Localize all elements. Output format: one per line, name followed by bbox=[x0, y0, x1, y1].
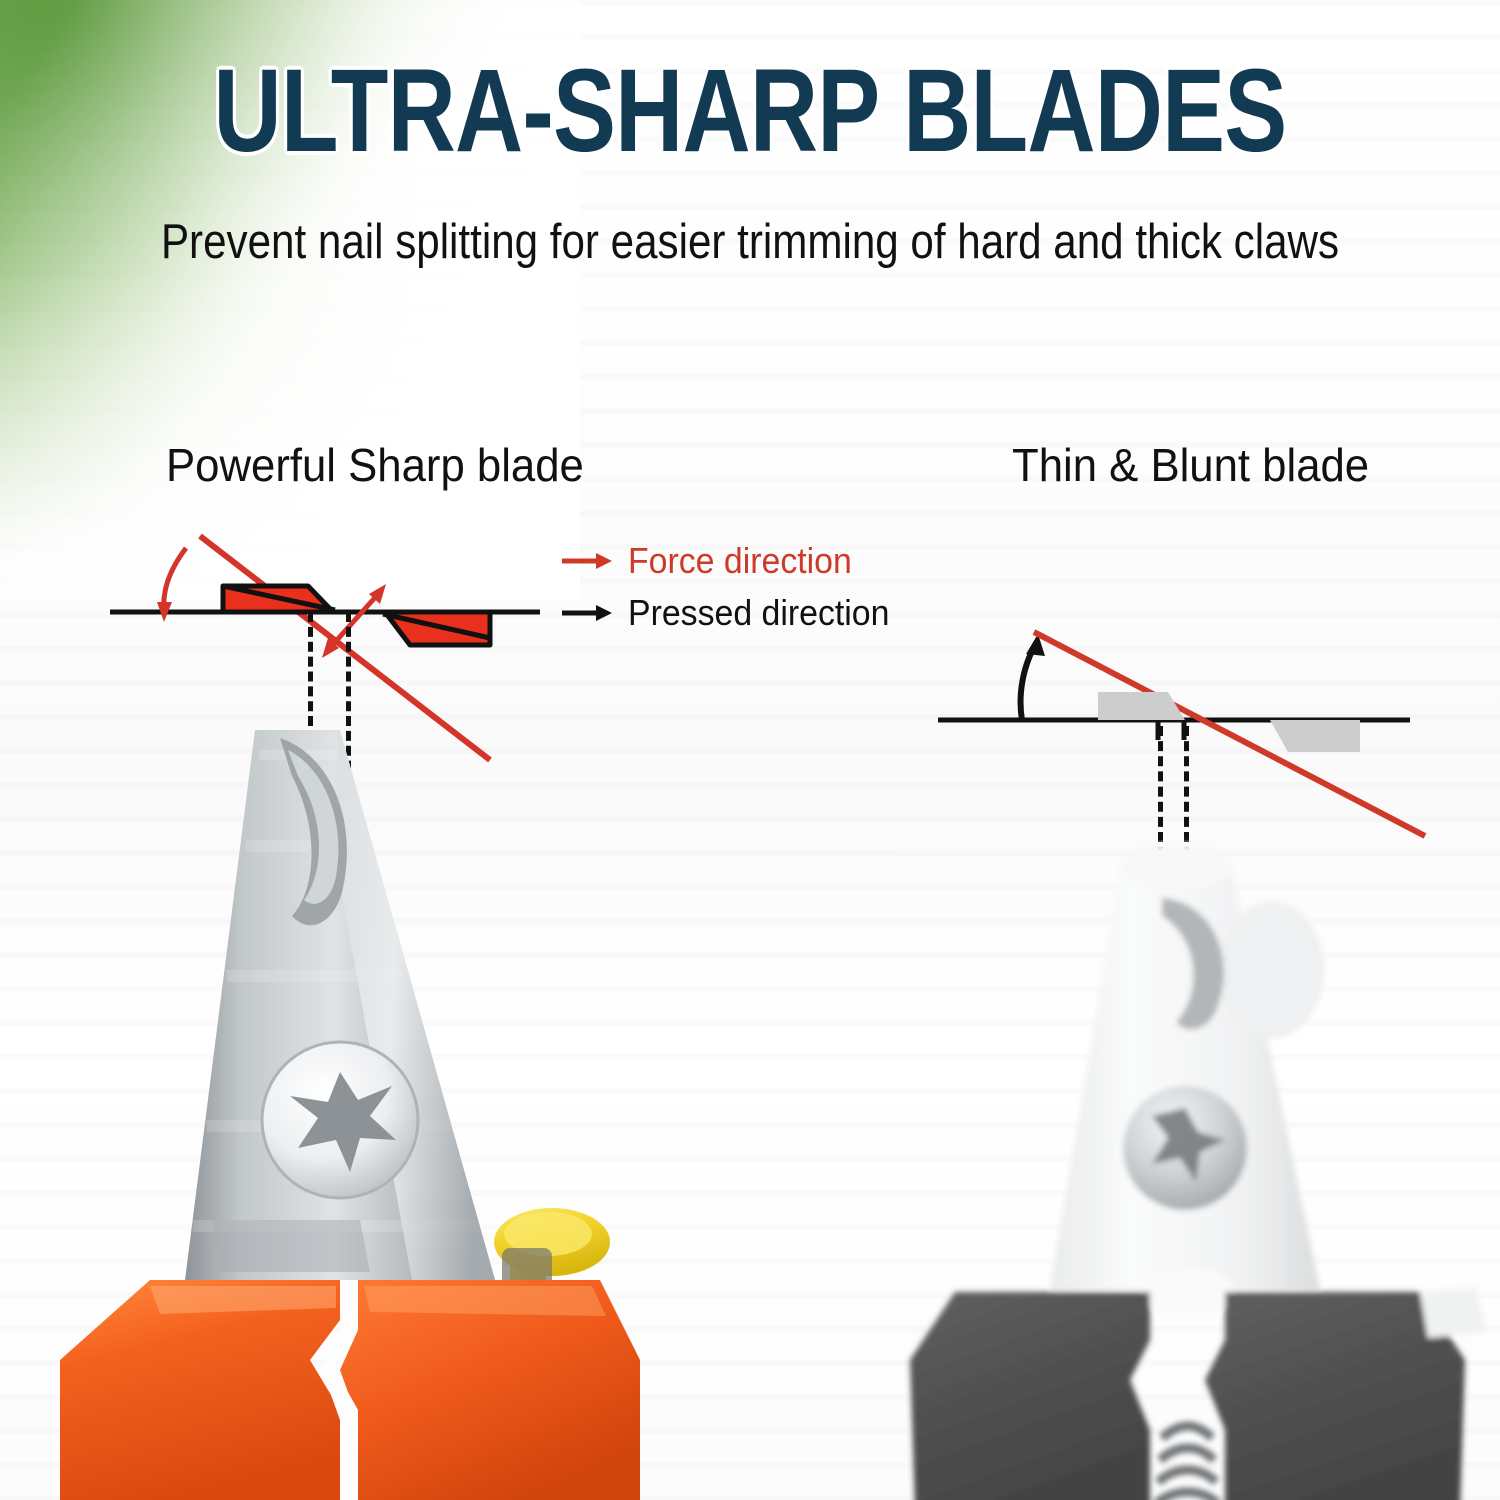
photo-washout-overlay bbox=[900, 840, 1500, 1500]
panel-heading-sharp-blade: Powerful Sharp blade bbox=[166, 438, 584, 492]
product-photo-blunt-clipper bbox=[900, 840, 1500, 1500]
panel-heading-blunt-blade: Thin & Blunt blade bbox=[1012, 438, 1369, 492]
page-title: ULTRA-SHARP BLADES bbox=[150, 52, 1350, 170]
legend-pressed-direction: Pressed direction bbox=[560, 592, 906, 634]
force-arrow-icon bbox=[560, 548, 614, 574]
blade-lower-ledge bbox=[212, 1220, 370, 1272]
handle-left-orange bbox=[60, 1280, 340, 1500]
blade-block-lower bbox=[1270, 720, 1360, 752]
legend-pressed-label: Pressed direction bbox=[628, 592, 889, 634]
pressed-arrow-icon bbox=[560, 600, 614, 626]
legend-force-label: Force direction bbox=[628, 540, 852, 582]
force-line-red bbox=[1034, 632, 1425, 836]
infographic-page: ULTRA-SHARP BLADES Prevent nail splittin… bbox=[0, 0, 1500, 1500]
blade-block-upper bbox=[1098, 692, 1185, 720]
handle-right-highlight bbox=[364, 1286, 606, 1316]
page-subtitle: Prevent nail splitting for easier trimmi… bbox=[105, 218, 1395, 267]
legend-force-direction: Force direction bbox=[560, 540, 866, 582]
product-photo-sharp-clipper bbox=[40, 720, 700, 1500]
gap-arrow-line bbox=[328, 592, 380, 650]
